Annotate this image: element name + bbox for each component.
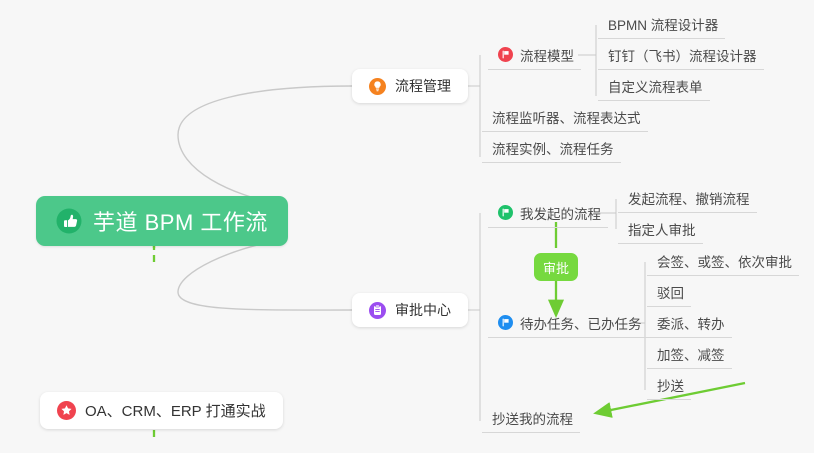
node-label-todo-done-tasks: 待办任务、已办任务	[520, 313, 642, 333]
leaf-label-add-remove-sign: 加签、减签	[657, 344, 725, 364]
root-node[interactable]: 芋道 BPM 工作流	[36, 196, 288, 246]
connector-root-to-process-management	[178, 86, 352, 204]
leaf-start-cancel-process[interactable]: 发起流程、撤销流程	[618, 183, 757, 213]
thumbs-up-icon	[56, 208, 82, 234]
leaf-label-cc: 抄送	[657, 375, 684, 395]
leaf-dingtalk-designer[interactable]: 钉钉（飞书）流程设计器	[598, 40, 764, 70]
branch-label-process-management: 流程管理	[395, 76, 451, 96]
leaf-label-custom-form: 自定义流程表单	[608, 76, 703, 96]
node-label-my-initiated-process: 我发起的流程	[520, 203, 601, 223]
leaf-instance-task[interactable]: 流程实例、流程任务	[482, 133, 621, 163]
node-label-process-model: 流程模型	[520, 45, 574, 65]
root-label: 芋道 BPM 工作流	[93, 205, 268, 237]
leaf-listener-expression[interactable]: 流程监听器、流程表达式	[482, 102, 648, 132]
footnote-node[interactable]: OA、CRM、ERP 打通实战	[40, 392, 283, 429]
leaf-label-dingtalk-designer: 钉钉（飞书）流程设计器	[608, 45, 757, 65]
leaf-countersign[interactable]: 会签、或签、依次审批	[647, 246, 799, 276]
callout-label-approval: 审批	[543, 258, 569, 277]
leaf-add-remove-sign[interactable]: 加签、减签	[647, 339, 732, 369]
node-my-initiated-process[interactable]: 我发起的流程	[488, 198, 608, 228]
leaf-label-assigned-approval: 指定人审批	[628, 219, 696, 239]
leaf-label-delegate-transfer: 委派、转办	[657, 313, 725, 333]
leaf-label-bpmn-designer: BPMN 流程设计器	[608, 14, 718, 34]
branch-node-process-management[interactable]: 流程管理	[352, 69, 468, 103]
branch-node-approval-center[interactable]: 审批中心	[352, 293, 468, 327]
leaf-label-instance-task: 流程实例、流程任务	[492, 138, 614, 158]
leaf-cc-my-process[interactable]: 抄送我的流程	[482, 403, 580, 433]
leaf-label-reject: 驳回	[657, 282, 684, 302]
footnote-label: OA、CRM、ERP 打通实战	[85, 400, 266, 421]
branch-label-approval-center: 审批中心	[395, 300, 451, 320]
lightbulb-icon	[369, 78, 386, 95]
callout-approval[interactable]: 审批	[534, 253, 578, 281]
leaf-label-start-cancel-process: 发起流程、撤销流程	[628, 188, 750, 208]
leaf-cc[interactable]: 抄送	[647, 370, 691, 400]
leaf-label-cc-my-process: 抄送我的流程	[492, 408, 573, 428]
leaf-reject[interactable]: 驳回	[647, 277, 691, 307]
leaf-label-listener-expression: 流程监听器、流程表达式	[492, 107, 641, 127]
leaf-assigned-approval[interactable]: 指定人审批	[618, 214, 703, 244]
node-todo-done-tasks[interactable]: 待办任务、已办任务	[488, 308, 649, 338]
clipboard-icon	[369, 302, 386, 319]
flag-icon	[498, 47, 513, 62]
flag-icon	[498, 205, 513, 220]
connector-root-to-approval-center	[178, 240, 352, 310]
leaf-delegate-transfer[interactable]: 委派、转办	[647, 308, 732, 338]
flag-icon	[498, 315, 513, 330]
leaf-label-countersign: 会签、或签、依次审批	[657, 251, 792, 271]
mindmap-canvas: 芋道 BPM 工作流 流程管理 流程模型 BPMN 流程设计器 钉钉（飞书）流	[0, 0, 814, 453]
leaf-custom-form[interactable]: 自定义流程表单	[598, 71, 710, 101]
node-process-model[interactable]: 流程模型	[488, 40, 581, 70]
star-icon	[57, 401, 76, 420]
leaf-bpmn-designer[interactable]: BPMN 流程设计器	[598, 9, 725, 39]
